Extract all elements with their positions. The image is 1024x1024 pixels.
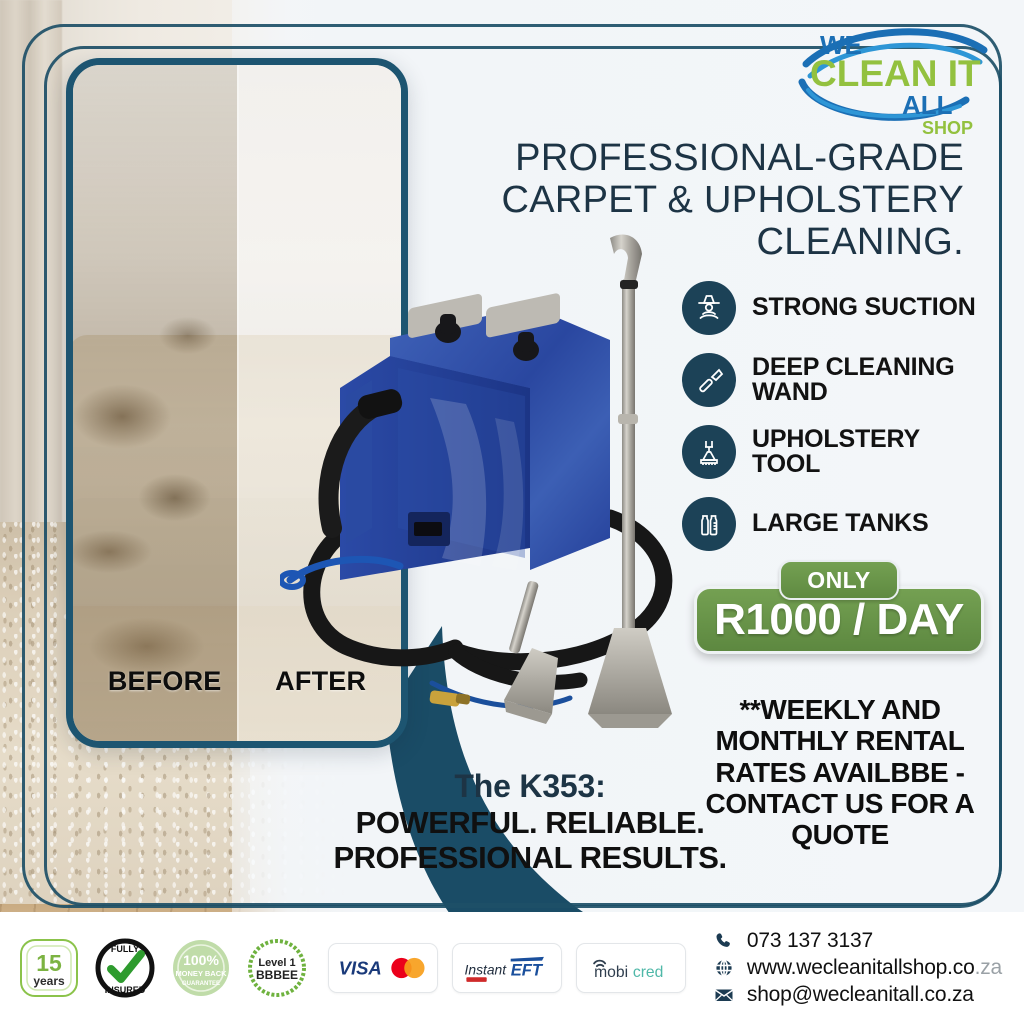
insured-bottom: INSURED <box>105 985 146 995</box>
visa-label: VISA <box>339 957 382 978</box>
money-back-bottom: GUARANTEE <box>182 981 220 987</box>
upholstery-tool-icon <box>682 425 736 479</box>
website-main: www.wecleanitallshop.co <box>747 956 975 979</box>
instant-eft-logo: Instant EFT <box>452 943 562 993</box>
mobicred-label-2: cred <box>633 964 664 981</box>
fully-insured-badge: FULLY INSURED <box>94 937 156 999</box>
suction-icon <box>682 281 736 335</box>
money-back-mid: MONEY BACK <box>175 969 227 978</box>
phone-number: 073 137 3137 <box>747 929 873 953</box>
trust-badge-group: 15 years FULLY INSURED 100% MONEY BACK <box>0 937 308 999</box>
website-url: www.wecleanitallshop.co.za <box>747 956 1002 980</box>
feature-item: UPHOLSTERY TOOL <box>682 424 992 480</box>
email-address: shop@wecleanitall.co.za <box>747 983 974 1007</box>
rental-note: **WEEKLY AND MONTHLY RENTAL RATES AVAILB… <box>690 694 990 851</box>
globe-icon <box>713 957 735 979</box>
dirty-overlay <box>73 65 237 741</box>
contact-info: 073 137 3137 www.wecleanitallshop.co.za <box>713 926 1024 1010</box>
feature-label: DEEP CLEANING WAND <box>752 355 992 406</box>
split-divider <box>237 65 239 741</box>
feature-item: DEEP CLEANING WAND <box>682 352 992 408</box>
headline-line-1: PROFESSIONAL-GRADE <box>444 138 964 180</box>
only-label: ONLY <box>807 567 870 594</box>
years-word: years <box>33 974 65 988</box>
feature-list: STRONG SUCTION DEEP CLEANING WAND <box>682 280 992 568</box>
price-badge: ONLY R1000 / DAY <box>694 560 984 654</box>
brand-logo[interactable]: WE CLEAN IT ALL SHOP <box>794 20 994 138</box>
feature-item: STRONG SUCTION <box>682 280 992 336</box>
logo-line-clean-it: CLEAN IT <box>810 53 981 94</box>
visa-mastercard-logo: VISA <box>328 943 438 993</box>
contact-email-row[interactable]: shop@wecleanitall.co.za <box>713 983 1002 1007</box>
bbbee-label: BBBEE <box>256 968 298 982</box>
eft-label-2: EFT <box>511 960 544 979</box>
website-tld: .za <box>975 956 1002 979</box>
mobicred-label-1: mobi <box>594 964 628 981</box>
feature-item: LARGE TANKS <box>682 496 992 552</box>
tagline-model: The K353: <box>330 768 730 805</box>
mobicred-logo: mobi cred <box>576 943 686 993</box>
footer-bar: 15 years FULLY INSURED 100% MONEY BACK <box>0 912 1024 1024</box>
contact-website-row[interactable]: www.wecleanitallshop.co.za <box>713 956 1002 980</box>
feature-label: STRONG SUCTION <box>752 295 976 321</box>
product-tagline: The K353: POWERFUL. RELIABLE. PROFESSION… <box>330 768 730 876</box>
headline-line-2: CARPET & UPHOLSTERY <box>444 180 964 222</box>
headline-line-3: CLEANING. <box>444 222 964 264</box>
bbbee-badge: Level 1 BBBEE <box>246 937 308 999</box>
payment-logo-group: VISA Instant EFT mobi cred <box>308 943 686 993</box>
envelope-icon <box>713 984 735 1006</box>
years-badge: 15 years <box>18 937 80 999</box>
feature-label: UPHOLSTERY TOOL <box>752 427 992 478</box>
insured-top: FULLY <box>111 944 139 954</box>
logo-line-all: ALL <box>902 90 953 120</box>
contact-phone-row[interactable]: 073 137 3137 <box>713 929 1002 953</box>
eft-label-1: Instant <box>465 961 508 977</box>
headline: PROFESSIONAL-GRADE CARPET & UPHOLSTERY C… <box>444 138 964 263</box>
tagline-line-3: PROFESSIONAL RESULTS. <box>330 840 730 875</box>
wand-icon <box>682 353 736 407</box>
logo-line-shop: SHOP <box>922 118 973 138</box>
feature-label: LARGE TANKS <box>752 511 929 537</box>
years-number: 15 <box>36 950 62 976</box>
tanks-icon <box>682 497 736 551</box>
price-amount: R1000 / DAY <box>714 595 964 645</box>
before-label: BEFORE <box>108 666 222 697</box>
tagline-line-2: POWERFUL. RELIABLE. <box>330 805 730 840</box>
phone-icon <box>713 930 735 952</box>
money-back-percent: 100% <box>183 952 219 968</box>
carpet-extractor-machine <box>280 228 710 768</box>
promo-poster: BEFORE AFTER <box>0 0 1024 1024</box>
only-tab: ONLY <box>779 560 899 600</box>
money-back-badge: 100% MONEY BACK GUARANTEE <box>170 937 232 999</box>
